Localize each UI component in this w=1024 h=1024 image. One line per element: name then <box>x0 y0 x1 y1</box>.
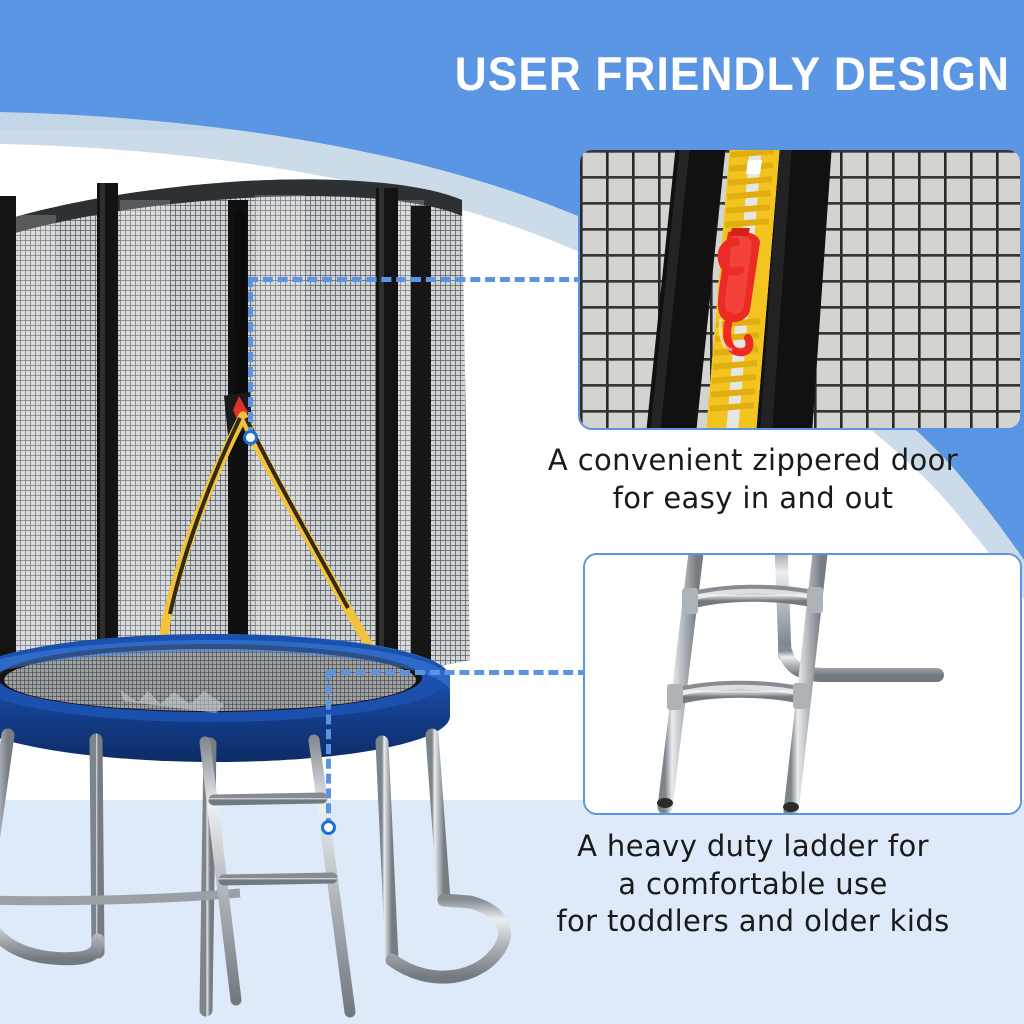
infographic-canvas: USER FRIENDLY DESIGN <box>0 0 1024 1024</box>
ladder-caption: A heavy duty ladder for a comfortable us… <box>486 828 1020 941</box>
ladder-caption-line-3: for toddlers and older kids <box>486 903 1020 941</box>
connector-ladder-endpoint-dot <box>321 820 336 835</box>
zipper-caption-line-2: for easy in and out <box>486 480 1020 518</box>
ladder-closeup-image <box>585 555 1020 813</box>
page-title: USER FRIENDLY DESIGN <box>61 46 1010 101</box>
connector-zipper-horizontal <box>248 277 584 282</box>
zipper-photo-card <box>578 148 1022 430</box>
zipper-caption-line-1: A convenient zippered door <box>486 442 1020 480</box>
connector-ladder-horizontal <box>326 670 588 675</box>
zipper-caption: A convenient zippered door for easy in a… <box>486 442 1020 517</box>
connector-zipper-endpoint-dot <box>243 430 258 445</box>
ladder-caption-line-2: a comfortable use <box>486 866 1020 904</box>
ladder-caption-line-1: A heavy duty ladder for <box>486 828 1020 866</box>
connector-ladder-vertical <box>326 670 331 828</box>
connector-zipper-vertical <box>248 277 253 437</box>
ladder-photo-card <box>583 553 1022 815</box>
zipper-closeup-image <box>580 150 1020 428</box>
